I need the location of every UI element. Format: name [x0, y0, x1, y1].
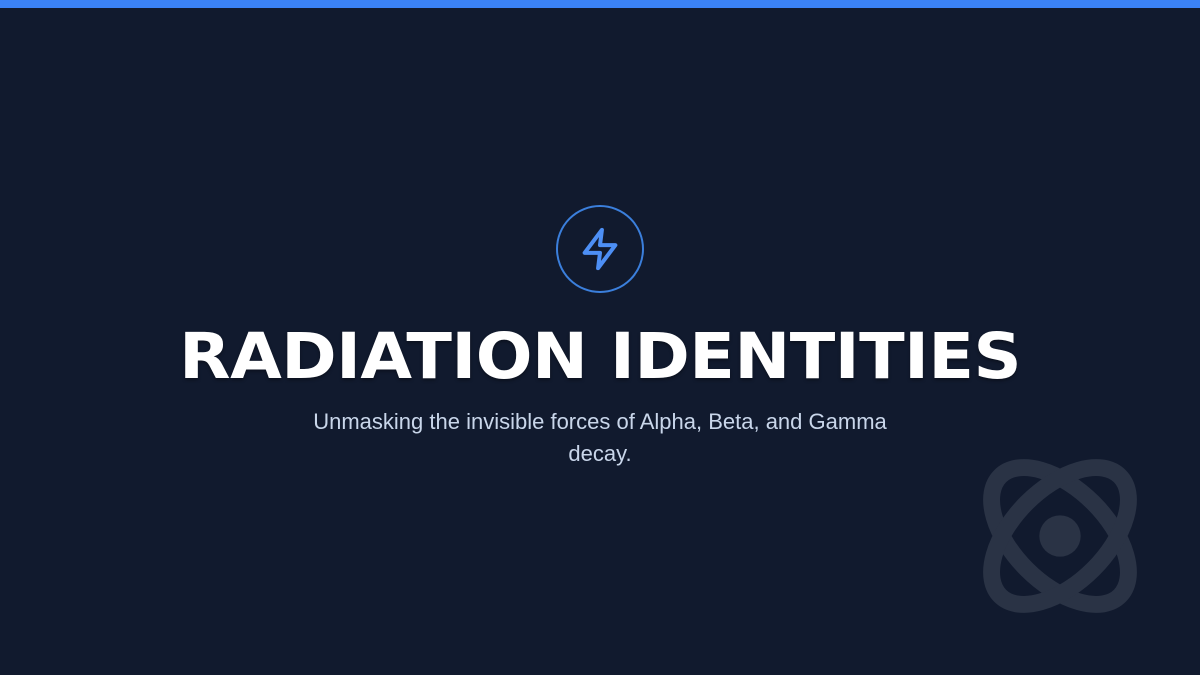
- page-subtitle: Unmasking the invisible forces of Alpha,…: [310, 406, 890, 470]
- badge-ring: [556, 205, 644, 293]
- lightning-bolt-icon: [577, 226, 623, 272]
- top-accent-bar: [0, 0, 1200, 8]
- slide-content: RADIATION IDENTITIES Unmasking the invis…: [0, 0, 1200, 675]
- title-slide: RADIATION IDENTITIES Unmasking the invis…: [0, 0, 1200, 675]
- page-title: RADIATION IDENTITIES: [179, 325, 1021, 389]
